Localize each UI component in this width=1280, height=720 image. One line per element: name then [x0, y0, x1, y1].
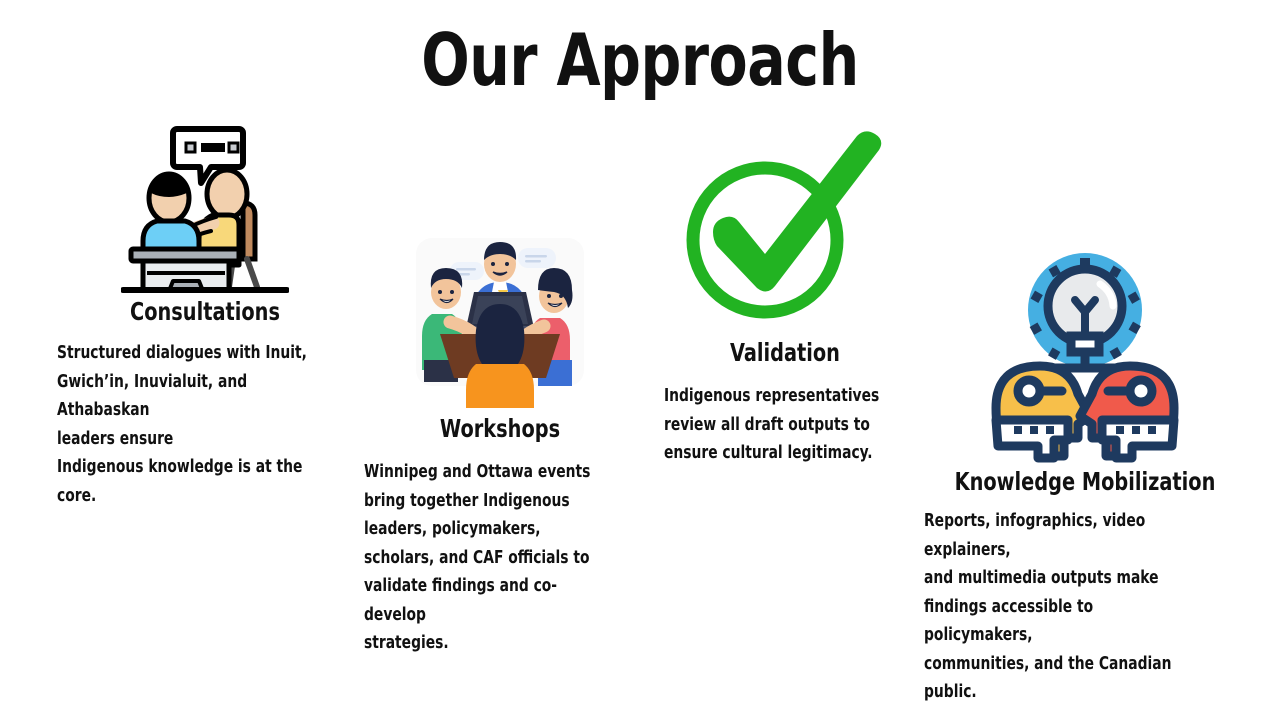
- approach-step-consultations: Consultations Structured dialogues with …: [40, 118, 370, 510]
- approach-step-workshops: Workshops Winnipeg and Ottawa events bri…: [350, 228, 650, 658]
- step-body: Reports, infographics, video explainers,…: [924, 507, 1202, 707]
- step-body: Winnipeg and Ottawa events bring togethe…: [364, 458, 616, 658]
- consultation-meeting-icon: [40, 118, 370, 293]
- page-title: Our Approach: [77, 20, 1203, 100]
- lightbulb-two-heads-icon: [930, 243, 1240, 463]
- workshop-group-meeting-icon: [350, 228, 650, 408]
- step-heading: Consultations: [63, 297, 347, 327]
- step-heading: Validation: [669, 338, 901, 368]
- slide-canvas: Our Approach: [0, 0, 1280, 720]
- step-heading: Workshops: [371, 414, 629, 444]
- approach-step-validation: Validation Indigenous representatives re…: [650, 128, 920, 468]
- approach-step-knowledge-mobilization: Knowledge Mobilization Reports, infograp…: [930, 243, 1240, 707]
- step-heading: Knowledge Mobilization: [952, 467, 1219, 497]
- step-body: Indigenous representatives review all dr…: [664, 382, 889, 468]
- step-body: Structured dialogues with Inuit, Gwich’i…: [57, 339, 332, 510]
- green-checkmark-circle-icon: [650, 128, 920, 328]
